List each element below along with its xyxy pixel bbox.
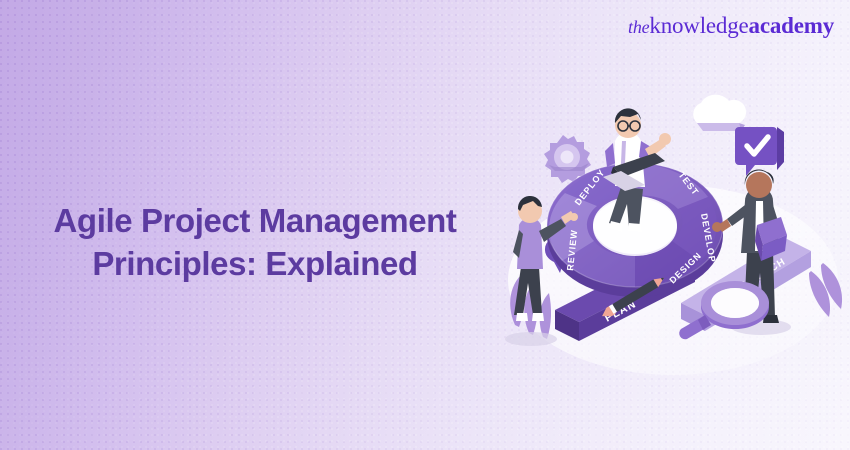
- logo-word-the: the: [628, 17, 649, 37]
- page-title-line-1: Agile Project Management: [0, 200, 510, 243]
- logo-word-academy: academy: [749, 13, 834, 38]
- page-title-line-2: Principles: Explained: [0, 243, 510, 286]
- agile-lifecycle-illustration: LAUNCH PLAN: [495, 75, 850, 375]
- check-speech-bubble-icon: [735, 127, 784, 176]
- page-title: Agile Project Management Principles: Exp…: [0, 200, 510, 286]
- cloud-icon: [693, 95, 746, 131]
- brand-logo[interactable]: theknowledgeacademy: [628, 14, 834, 37]
- hero-banner: theknowledgeacademy Agile Project Manage…: [0, 0, 850, 450]
- logo-word-knowledge: knowledge: [649, 13, 748, 38]
